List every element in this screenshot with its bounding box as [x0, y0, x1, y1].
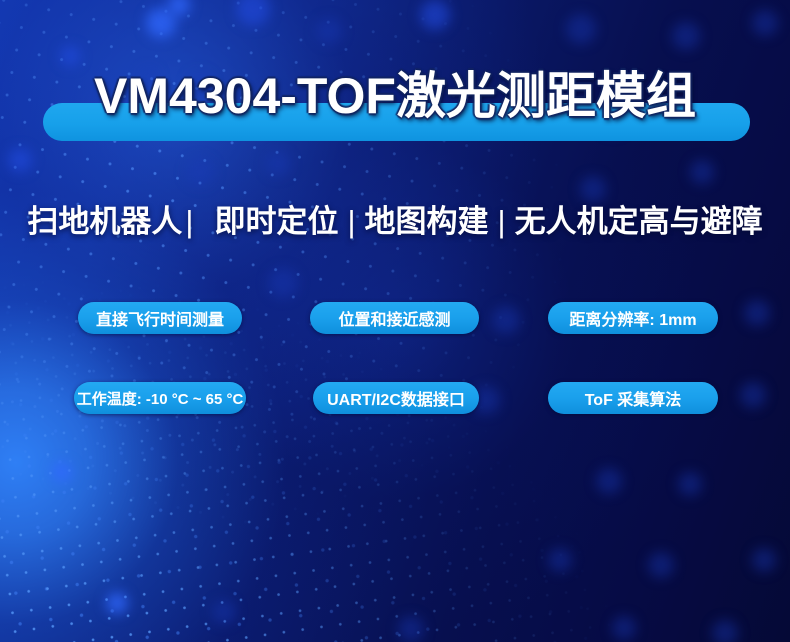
bokeh-circle	[8, 148, 32, 172]
feature-pill-data-interface: UART/I2C数据接口	[313, 382, 479, 414]
bokeh-circle	[752, 10, 778, 36]
bokeh-circle	[672, 22, 700, 50]
bokeh-circle	[566, 14, 596, 44]
subtitle-separator: |	[182, 204, 196, 239]
bokeh-circle	[678, 472, 702, 496]
bokeh-circle	[712, 620, 738, 642]
bokeh-circle	[752, 548, 776, 572]
bokeh-circle	[106, 592, 128, 614]
feature-pill-direct-tof-measurement: 直接飞行时间测量	[78, 302, 242, 334]
feature-pill-operating-temperature: 工作温度: -10 °C ~ 65 °C	[74, 382, 246, 414]
bokeh-circle	[740, 382, 766, 408]
bokeh-circle	[612, 616, 636, 640]
product-banner: VM4304-TOF激光测距模组 扫地机器人|即时定位|地图构建|无人机定高与避…	[0, 0, 790, 642]
bokeh-circle	[580, 176, 606, 202]
bokeh-circle	[186, 158, 214, 186]
subtitle-item-4: 无人机定高与避障	[515, 204, 763, 239]
bokeh-circle	[212, 600, 236, 624]
subtitle-item-3: 地图构建	[365, 204, 489, 239]
bokeh-circle	[690, 160, 714, 184]
feature-pill-distance-resolution: 距离分辨率: 1mm	[548, 302, 718, 334]
bokeh-circle	[316, 18, 342, 44]
bokeh-circle	[648, 552, 674, 578]
bokeh-circle	[548, 548, 572, 572]
subtitle-item-2: 即时定位	[214, 204, 338, 239]
feature-pill-tof-algorithm: ToF 采集算法	[548, 382, 718, 414]
subtitle-separator: |	[338, 204, 364, 239]
feature-pill-position-proximity-sensing: 位置和接近感测	[310, 302, 479, 334]
title-banner: VM4304-TOF激光测距模组	[0, 103, 790, 141]
bokeh-circle	[492, 306, 520, 334]
subtitle-separator: |	[489, 204, 515, 239]
bokeh-circle	[596, 468, 622, 494]
page-title: VM4304-TOF激光测距模组	[0, 71, 790, 121]
bokeh-circle	[52, 462, 72, 482]
subtitle-item-1: 扫地机器人	[27, 204, 182, 239]
subtitle-spacer	[196, 204, 214, 239]
bokeh-circle	[744, 300, 770, 326]
bokeh-circle	[420, 0, 450, 30]
subtitle-row: 扫地机器人|即时定位|地图构建|无人机定高与避障	[0, 200, 790, 244]
bokeh-circle	[268, 268, 298, 298]
bokeh-circle	[266, 152, 290, 176]
bokeh-circle	[60, 46, 80, 66]
bokeh-circle	[398, 616, 424, 642]
